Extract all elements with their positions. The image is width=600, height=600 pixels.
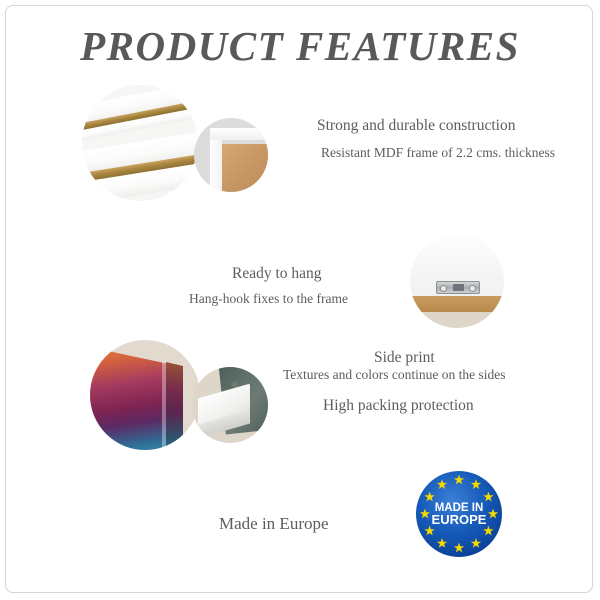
hang-hook-bracket-icon bbox=[436, 281, 480, 294]
photo-packing-protection bbox=[192, 367, 268, 443]
feature-heading-packing-protection: High packing protection bbox=[323, 397, 474, 415]
hook-backdrop bbox=[410, 312, 504, 328]
feature-subtext-side-print: Textures and colors continue on the side… bbox=[283, 367, 506, 383]
page-title: PRODUCT FEATURES bbox=[6, 22, 593, 70]
feature-heading-side-print: Side print bbox=[374, 349, 435, 367]
infographic-card: PRODUCT FEATURES Strong and durable cons… bbox=[5, 5, 593, 593]
canvas-front-face bbox=[90, 344, 168, 450]
feature-subtext-durable-construction: Resistant MDF frame of 2.2 cms. thicknes… bbox=[321, 145, 555, 161]
photo-mdf-frame-large bbox=[82, 85, 198, 201]
photo-hang-hook bbox=[410, 234, 504, 328]
corner-frame-edge-horizontal bbox=[210, 128, 268, 140]
feature-heading-made-in-europe: Made in Europe bbox=[219, 514, 329, 534]
feature-heading-durable-construction: Strong and durable construction bbox=[317, 117, 515, 135]
eu-made-in-europe-badge-icon: MADE IN EUROPE bbox=[415, 470, 503, 558]
photo-frame-corner-small bbox=[194, 118, 268, 192]
photo-side-print-canvas bbox=[90, 340, 200, 450]
feature-subtext-ready-to-hang: Hang-hook fixes to the frame bbox=[189, 291, 348, 307]
corner-wood-edge bbox=[220, 144, 268, 192]
feature-heading-ready-to-hang: Ready to hang bbox=[232, 265, 322, 283]
eu-badge-text-line2: EUROPE bbox=[432, 512, 487, 527]
canvas-side-face bbox=[166, 362, 183, 450]
hook-wood-edge bbox=[410, 296, 504, 312]
